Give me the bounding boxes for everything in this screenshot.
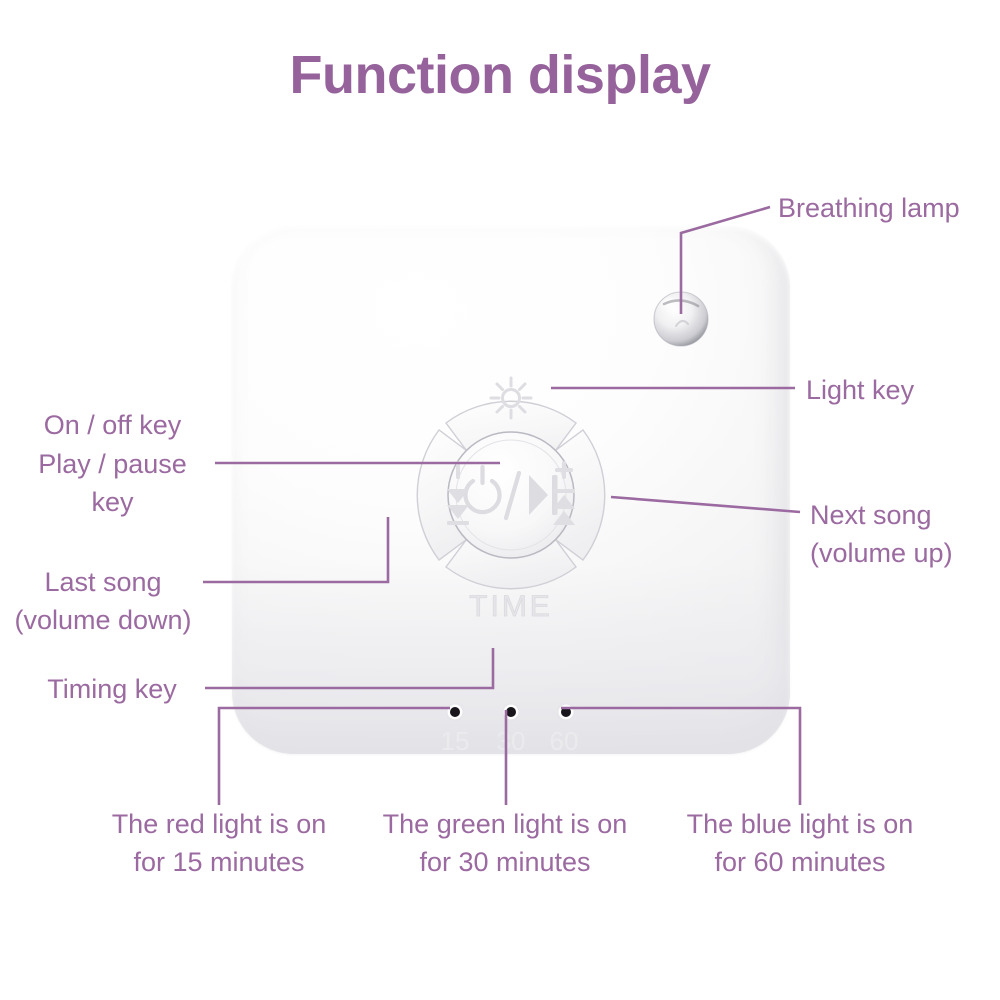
led-green-30min (506, 707, 516, 717)
callout-on-off-key: On / off key (20, 406, 205, 444)
callout-red-light: The red light is on for 15 minutes (78, 805, 360, 881)
function-display-infographic: Function display (0, 0, 1000, 1000)
svg-text:60: 60 (550, 726, 579, 754)
device-illustration: TIME 15 30 60 (232, 226, 790, 754)
callout-timing-key: Timing key (22, 670, 202, 708)
time-label-emboss: TIME (469, 590, 553, 623)
led-blue-60min (561, 707, 571, 717)
page-title: Function display (0, 46, 1000, 105)
callout-green-light: The green light is on for 30 minutes (355, 805, 655, 881)
callout-next-song: Next song (volume up) (810, 496, 953, 572)
svg-text:30: 30 (497, 726, 526, 754)
callout-last-song: Last song (volume down) (4, 563, 202, 639)
callout-play-pause-key: Play / pause key (20, 445, 205, 521)
svg-text:15: 15 (441, 726, 470, 754)
timer-marks-emboss: 15 30 60 (441, 726, 579, 754)
callout-blue-light: The blue light is on for 60 minutes (655, 805, 945, 881)
sun-icon (491, 378, 531, 418)
callout-light-key: Light key (806, 371, 914, 409)
device-face-svg: TIME 15 30 60 (232, 226, 790, 754)
breathing-lamp-icon (654, 292, 708, 346)
callout-breathing-lamp: Breathing lamp (778, 189, 960, 227)
led-red-15min (450, 707, 460, 717)
